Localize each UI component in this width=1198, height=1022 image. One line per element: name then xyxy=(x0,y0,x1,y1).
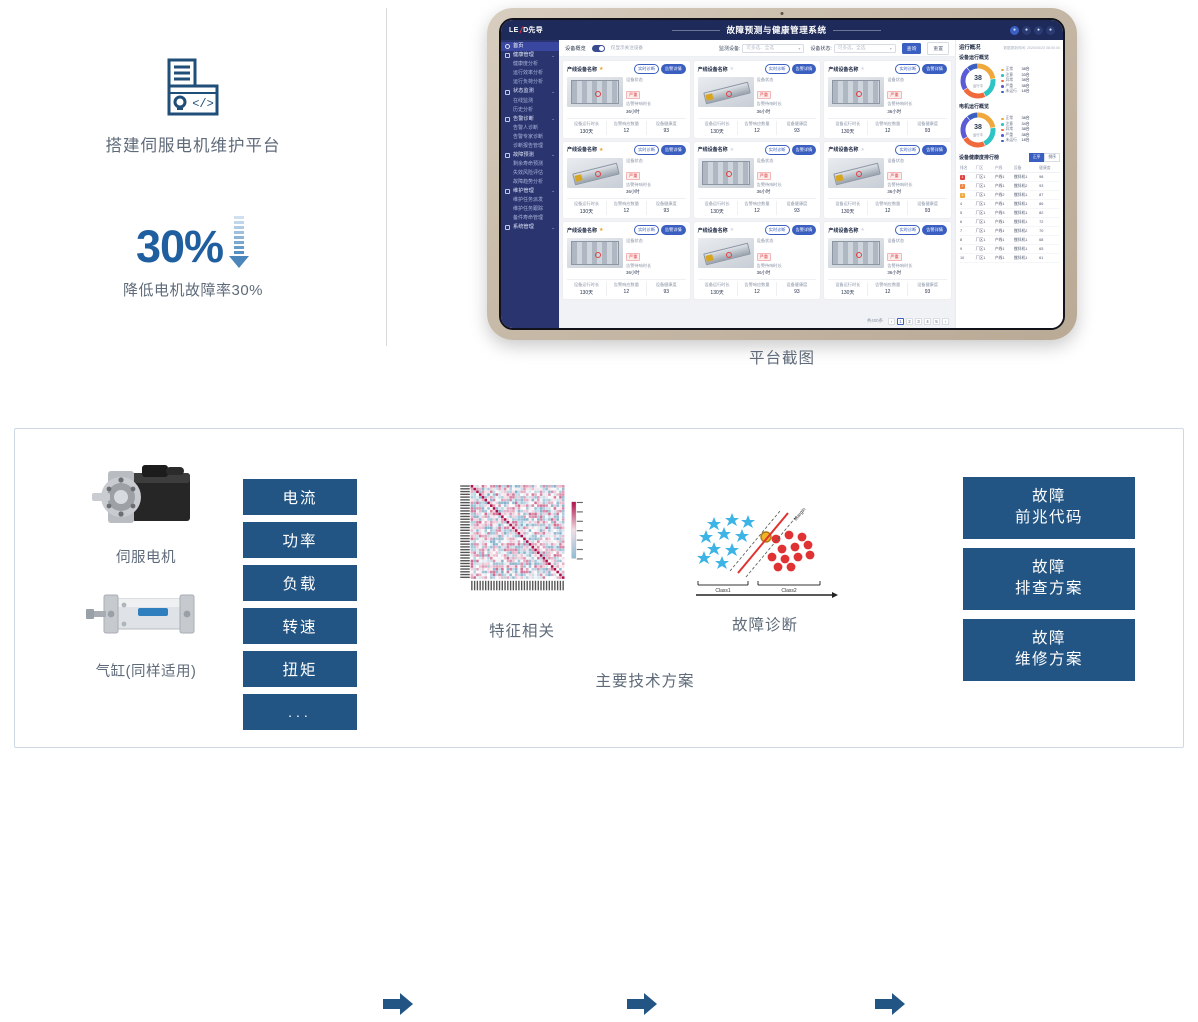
card-top: 产线设备名称★实时诊断告警详情 xyxy=(567,64,686,74)
output-box-2: 故障维修方案 xyxy=(963,619,1135,681)
rank-cell-plant: 厂区1 xyxy=(975,254,994,263)
device-card[interactable]: 产线设备名称★实时诊断告警详情设备状态严重告警待响时长36小时设备运行时长130… xyxy=(694,142,821,219)
card-stats: 设备运行时长130天告警响应数量12设备健康度93 xyxy=(698,118,817,135)
device-image xyxy=(567,238,623,268)
stat-value: 12 xyxy=(868,289,907,295)
device-image xyxy=(567,77,623,107)
sidebar-subitem-11[interactable]: 诊断报告管理 xyxy=(501,142,559,151)
title-rule-left xyxy=(672,30,720,31)
rank-cell-rank: 6 xyxy=(959,218,975,227)
device-card[interactable]: 产线设备名称★实时诊断告警详情设备状态严重告警待响时长36小时设备运行时长130… xyxy=(694,222,821,299)
card-mid: 设备状态严重告警待响时长36小时 xyxy=(828,238,947,276)
card-stat-cell: 设备健康度93 xyxy=(908,282,947,296)
card-top: 产线设备名称★实时诊断告警详情 xyxy=(828,145,947,155)
app-header: LE / D先导 故障预测与健康管理系统 ● ● ● ● xyxy=(501,20,1063,40)
device-status-label: 设备状态: xyxy=(810,45,831,52)
sidebar-subitem-7[interactable]: 历史分析 xyxy=(501,106,559,115)
stat-value: 93 xyxy=(908,208,947,214)
stat-key: 设备健康度 xyxy=(647,201,686,207)
tablet-screen: LE / D先导 故障预测与健康管理系统 ● ● ● ● xyxy=(499,18,1065,330)
rank-table-row[interactable]: 7厂区1产线1搅拌机270 xyxy=(959,227,1060,236)
donut-legend: 正常38台注意34台异常38台严重38台未运行18台 xyxy=(1001,116,1060,144)
stat-value: 93 xyxy=(777,128,816,134)
output-line1: 故障 xyxy=(1032,558,1066,579)
sidebar-item-16[interactable]: 维护管理⌄ xyxy=(501,187,559,196)
sidebar-subitem-17[interactable]: 维护任务派发 xyxy=(501,196,559,205)
card-stat-cell: 设备运行时长130天 xyxy=(828,121,868,135)
rank-cell-line: 产线1 xyxy=(994,236,1013,245)
donut-label: 运行中 xyxy=(973,83,983,88)
servo-motor-image xyxy=(80,457,212,542)
rank-cell-plant: 厂区1 xyxy=(975,200,994,209)
tablet-device: LE / D先导 故障预测与健康管理系统 ● ● ● ● xyxy=(487,8,1077,340)
alarm-detail-button[interactable]: 告警详情 xyxy=(792,64,817,74)
heart-icon xyxy=(505,53,510,58)
chart-icon xyxy=(505,153,510,158)
rank-cell-plant: 厂区1 xyxy=(975,182,994,191)
status-badge: 严重 xyxy=(757,172,771,180)
query-button[interactable]: 查询 xyxy=(902,43,922,54)
sidebar-item-label: 状态监测 xyxy=(513,89,534,94)
logo-right-text: D先导 xyxy=(523,25,543,35)
stat-key: 设备运行时长 xyxy=(567,121,606,127)
sidebar-subitem-4[interactable]: 运行负荷分析 xyxy=(501,78,559,87)
rank-cell-score: 72 xyxy=(1038,218,1060,227)
alarm-detail-button[interactable]: 告警详情 xyxy=(792,225,817,235)
stat-key: 设备健康度 xyxy=(777,121,816,127)
equipment-item-motor: 伺服电机 xyxy=(73,457,219,567)
device-card[interactable]: 产线设备名称★实时诊断告警详情设备状态严重告警待响时长36小时设备运行时长130… xyxy=(563,142,690,219)
stat-value: 93 xyxy=(908,289,947,295)
stat-value: 93 xyxy=(908,128,947,134)
card-mid: 设备状态严重告警待响时长36小时 xyxy=(698,158,817,196)
stat-key: 设备运行时长 xyxy=(828,201,867,207)
device-cards-area: 产线设备名称★实时诊断告警详情设备状态严重告警待响时长36小时设备运行时长130… xyxy=(559,57,955,314)
stat-key: 告警响应数量 xyxy=(607,121,646,127)
sidebar-item-12[interactable]: 故障预测⌄ xyxy=(501,151,559,160)
card-title: 产线设备名称 xyxy=(567,227,597,234)
sidebar-subitem-9[interactable]: 告警人诊断 xyxy=(501,124,559,133)
sidebar-subitem-14[interactable]: 失效风险评估 xyxy=(501,169,559,178)
legend-value: 18台 xyxy=(1022,138,1030,144)
monitor-device-select[interactable]: 可多选、全选 ▾ xyxy=(742,44,804,53)
card-mid: 设备状态严重告警待响时长36小时 xyxy=(567,77,686,115)
rank-cell-device: 搅拌机1 xyxy=(1013,200,1038,209)
rank-cell-plant: 厂区1 xyxy=(975,218,994,227)
rank-cell-line: 产线2 xyxy=(994,191,1013,200)
app-body: 首页健康管理⌄健康度分析运行效率分析运行负荷分析状态监测⌄在线监测历史分析告警诊… xyxy=(501,40,1063,328)
legend-color-dot xyxy=(1001,80,1004,83)
stat-key: 告警响应数量 xyxy=(868,282,907,288)
donut-value: 38 xyxy=(974,124,982,131)
device-card[interactable]: 产线设备名称★实时诊断告警详情设备状态严重告警待响时长36小时设备运行时长130… xyxy=(694,61,821,138)
rank-cell-device: 搅拌机1 xyxy=(1013,254,1038,263)
legend-color-dot xyxy=(1001,134,1004,137)
rank-badge: 2 xyxy=(960,184,965,189)
stat-key: 设备健康度 xyxy=(908,282,947,288)
card-mid: 设备状态严重告警待响时长36小时 xyxy=(828,77,947,115)
card-mid: 设备状态严重告警待响时长36小时 xyxy=(828,158,947,196)
app-main: 设备概览 仅显示关注设备 监测设备: 可多选、全选 ▾ xyxy=(559,40,1063,328)
rank-cell-device: 搅拌机1 xyxy=(1013,218,1038,227)
card-buttons: 实时诊断告警详情 xyxy=(765,64,817,74)
rank-table-row[interactable]: 8厂区1产线1搅拌机168 xyxy=(959,236,1060,245)
alarm-detail-button[interactable]: 告警详情 xyxy=(792,145,817,155)
card-buttons: 实时诊断告警详情 xyxy=(765,145,817,155)
donut-chart-title: 设备运行概览 xyxy=(959,54,1060,61)
device-card[interactable]: 产线设备名称★实时诊断告警详情设备状态严重告警待响时长36小时设备运行时长130… xyxy=(824,61,951,138)
camera-icon xyxy=(781,12,784,15)
rank-tab[interactable]: 正序 xyxy=(1029,153,1045,162)
app-title: 故障预测与健康管理系统 xyxy=(726,24,826,36)
sidebar-item-label: 系统管理 xyxy=(513,225,534,230)
device-card[interactable]: 产线设备名称★实时诊断告警详情设备状态严重告警待响时长36小时设备运行时长130… xyxy=(824,222,951,299)
rank-cell-plant: 厂区1 xyxy=(975,209,994,218)
chevron-down-icon: ▾ xyxy=(890,46,892,51)
card-stat-cell: 告警响应数量12 xyxy=(868,121,908,135)
chevron-down-icon: ⌄ xyxy=(551,117,555,122)
card-stats: 设备运行时长130天告警响应数量12设备健康度93 xyxy=(828,198,947,215)
card-top: 产线设备名称★实时诊断告警详情 xyxy=(828,64,947,74)
rank-cell-rank: 8 xyxy=(959,236,975,245)
rank-table-row[interactable]: 1厂区1产线1搅拌机198 xyxy=(959,173,1060,182)
rank-cell-device: 搅拌机1 xyxy=(1013,236,1038,245)
donut-center: 38运行中 xyxy=(959,111,997,149)
bell-icon[interactable]: ● xyxy=(1022,26,1031,35)
legend-row: 未运行18台 xyxy=(1001,138,1060,144)
legend-color-dot xyxy=(1001,123,1004,126)
sidebar-item-0[interactable]: 首页 xyxy=(501,42,559,51)
card-buttons: 实时诊断告警详情 xyxy=(895,64,947,74)
device-card[interactable]: 产线设备名称★实时诊断告警详情设备状态严重告警待响时长36小时设备运行时长130… xyxy=(824,142,951,219)
sidebar-item-label: 故障预测 xyxy=(513,153,534,158)
sidebar-item-5[interactable]: 状态监测⌄ xyxy=(501,87,559,96)
card-stat-cell: 告警响应数量12 xyxy=(607,121,647,135)
card-mid: 设备状态严重告警待响时长36小时 xyxy=(567,158,686,196)
output-line1: 故障 xyxy=(1032,487,1066,508)
alarm-marker-icon xyxy=(726,252,732,258)
legend-color-dot xyxy=(1001,74,1004,77)
rank-column-header: 厂区 xyxy=(975,164,994,173)
parameter-box-5: ... xyxy=(243,694,357,730)
right-panel-head: 运行概况 数据更新时间: 2020/05/20 08:00:00 xyxy=(959,43,1060,51)
alarm-marker-icon xyxy=(856,252,862,258)
card-info: 设备状态严重告警待响时长36小时 xyxy=(757,238,817,276)
rank-cell-line: 产线1 xyxy=(994,254,1013,263)
rank-tabs[interactable]: 正序倒序 xyxy=(1029,153,1060,162)
output-box-0: 故障前兆代码 xyxy=(963,477,1135,539)
stat-value: 93 xyxy=(647,128,686,134)
rank-cell-device: 搅拌机2 xyxy=(1013,182,1038,191)
rank-cell-plant: 厂区1 xyxy=(975,191,994,200)
chevron-down-icon: ⌄ xyxy=(551,153,555,158)
next-page-button[interactable]: › xyxy=(942,318,949,325)
rank-cell-line: 产线1 xyxy=(994,173,1013,182)
donut-center: 38运行中 xyxy=(959,62,997,100)
home-icon xyxy=(505,44,510,49)
card-title: 产线设备名称 xyxy=(567,66,597,73)
sidebar-subitem-6[interactable]: 在线监测 xyxy=(501,97,559,106)
sidebar-item-label: 首页 xyxy=(513,44,523,49)
monitor-device-value: 可多选、全选 xyxy=(746,45,774,51)
app-title-wrap: 故障预测与健康管理系统 xyxy=(543,24,1010,36)
sidebar-item-label: 健康管理 xyxy=(513,53,534,58)
card-buttons: 实时诊断告警详情 xyxy=(765,225,817,235)
pending-value: 36小时 xyxy=(626,108,686,115)
svg-text:</>: </> xyxy=(192,97,214,111)
card-stat-cell: 设备健康度93 xyxy=(777,201,816,215)
app-sidebar[interactable]: 首页健康管理⌄健康度分析运行效率分析运行负荷分析状态监测⌄在线监测历史分析告警诊… xyxy=(501,40,559,328)
stat-number: 30% xyxy=(136,224,223,269)
realtime-diagnose-button[interactable]: 实时诊断 xyxy=(765,64,790,74)
page-button-1[interactable]: 1 xyxy=(897,318,904,325)
card-buttons: 实时诊断告警详情 xyxy=(634,225,686,235)
stat-value: 130天 xyxy=(828,289,867,296)
logo-left-text: LE xyxy=(509,27,519,34)
alarm-detail-button[interactable]: 告警详情 xyxy=(661,225,686,235)
star-icon[interactable]: ★ xyxy=(599,227,603,233)
stat-key: 设备运行时长 xyxy=(828,282,867,288)
card-stat-cell: 告警响应数量12 xyxy=(738,282,778,296)
realtime-diagnose-button[interactable]: 实时诊断 xyxy=(895,64,920,74)
status-badge: 严重 xyxy=(757,253,771,261)
sidebar-subitem-15[interactable]: 故障趋势分析 xyxy=(501,178,559,187)
card-stat-cell: 设备运行时长130天 xyxy=(698,282,738,296)
pending-value: 36小时 xyxy=(757,188,817,195)
card-stat-cell: 设备健康度93 xyxy=(908,201,947,215)
rank-cell-rank: 4 xyxy=(959,200,975,209)
chevron-down-icon: ▾ xyxy=(798,46,800,51)
pending-value: 36小时 xyxy=(757,108,817,115)
page-button-5[interactable]: 5 xyxy=(933,318,940,325)
donut-chart-block-0: 设备运行概览38运行中正常38台注意33台异常38台严重38台未运行18台 xyxy=(959,54,1060,100)
stat-value: 12 xyxy=(607,208,646,214)
rank-table: 排名厂区产线设备健康度 1厂区1产线1搅拌机1982厂区1产线1搅拌机2933厂… xyxy=(959,164,1060,263)
prev-page-button[interactable]: ‹ xyxy=(888,318,895,325)
chevron-down-icon: ⌄ xyxy=(551,226,555,231)
chevron-down-icon: ⌄ xyxy=(551,54,555,59)
stat-block: 30% 降低电机故障率30% xyxy=(123,224,263,300)
rank-table-row[interactable]: 2厂区1产线1搅拌机293 xyxy=(959,182,1060,191)
rank-cell-plant: 厂区1 xyxy=(975,236,994,245)
rank-cell-rank: 10 xyxy=(959,254,975,263)
svg-text:Class1: Class1 xyxy=(715,588,731,594)
star-icon[interactable]: ★ xyxy=(730,227,734,233)
equipment-column: 伺服电机 xyxy=(73,457,219,681)
pagination[interactable]: 共400条‹12345› xyxy=(559,314,955,328)
stat-value: 12 xyxy=(738,208,777,214)
code-window-icon: </> xyxy=(157,58,229,118)
card-title: 产线设备名称 xyxy=(828,146,858,153)
rank-cell-rank: 9 xyxy=(959,245,975,254)
stat-key: 设备健康度 xyxy=(647,282,686,288)
rank-column-header: 健康度 xyxy=(1038,164,1060,173)
rank-table-row[interactable]: 3厂区1产线2搅拌机187 xyxy=(959,191,1060,200)
page-button-2[interactable]: 2 xyxy=(906,318,913,325)
rank-cell-line: 产线1 xyxy=(994,227,1013,236)
alarm-marker-icon xyxy=(726,91,732,97)
stat-value: 12 xyxy=(607,128,646,134)
rank-header-row: 排名厂区产线设备健康度 xyxy=(959,164,1060,173)
stat-value: 93 xyxy=(647,208,686,214)
alarm-detail-button[interactable]: 告警详情 xyxy=(922,145,947,155)
user-icon[interactable]: ● xyxy=(1010,26,1019,35)
lock-icon[interactable]: ● xyxy=(1034,26,1043,35)
status-badge: 严重 xyxy=(626,91,640,99)
flow-arrow-1 xyxy=(383,991,413,1017)
realtime-diagnose-button[interactable]: 实时诊断 xyxy=(895,225,920,235)
device-status-value: 可多选、全选 xyxy=(838,45,866,51)
device-card[interactable]: 产线设备名称★实时诊断告警详情设备状态严重告警待响时长36小时设备运行时长130… xyxy=(563,222,690,299)
card-buttons: 实时诊断告警详情 xyxy=(634,145,686,155)
card-stat-cell: 设备健康度93 xyxy=(647,201,686,215)
status-badge: 严重 xyxy=(626,253,640,261)
alarm-detail-button[interactable]: 告警详情 xyxy=(922,225,947,235)
stat-value: 93 xyxy=(647,289,686,295)
realtime-diagnose-button[interactable]: 实时诊断 xyxy=(765,145,790,155)
stat-key: 设备运行时长 xyxy=(828,121,867,127)
right-panel: 运行概况 数据更新时间: 2020/05/20 08:00:00 设备运行概览3… xyxy=(955,40,1063,328)
device-status-field: 设备状态: 可多选、全选 ▾ xyxy=(810,44,895,53)
donut-charts: 设备运行概览38运行中正常38台注意33台异常38台严重38台未运行18台电机运… xyxy=(959,51,1060,149)
parameter-box-1: 功率 xyxy=(243,522,357,558)
rank-table-row[interactable]: 4厂区1产线1搅拌机186 xyxy=(959,200,1060,209)
stat-key: 设备健康度 xyxy=(777,282,816,288)
star-icon[interactable]: ★ xyxy=(860,66,864,72)
page-button-4[interactable]: 4 xyxy=(924,318,931,325)
sidebar-subitem-18[interactable]: 维护任务跟踪 xyxy=(501,205,559,214)
star-icon[interactable]: ★ xyxy=(860,227,864,233)
rank-column-header: 排名 xyxy=(959,164,975,173)
rank-cell-device: 搅拌机1 xyxy=(1013,209,1038,218)
sidebar-subitem-10[interactable]: 告警专家诊断 xyxy=(501,133,559,142)
flow-main-caption: 主要技术方案 xyxy=(515,669,775,691)
star-icon[interactable]: ★ xyxy=(860,147,864,153)
monitor-device-label: 监测设备: xyxy=(719,45,740,52)
sidebar-subitem-2[interactable]: 健康度分析 xyxy=(501,60,559,69)
rank-cell-device: 搅拌机1 xyxy=(1013,173,1038,182)
alarm-marker-icon xyxy=(726,171,732,177)
alarm-detail-button[interactable]: 告警详情 xyxy=(661,64,686,74)
device-image xyxy=(828,158,884,188)
alarm-marker-icon xyxy=(595,252,601,258)
card-stat-cell: 设备运行时长130天 xyxy=(567,121,607,135)
card-info: 设备状态严重告警待响时长36小时 xyxy=(887,158,947,196)
card-stat-cell: 设备运行时长130天 xyxy=(567,201,607,215)
device-image xyxy=(698,238,754,268)
page-button-3[interactable]: 3 xyxy=(915,318,922,325)
pending-value: 36小时 xyxy=(887,108,947,115)
rank-table-row[interactable]: 6厂区1产线1搅拌机172 xyxy=(959,218,1060,227)
show-followed-toggle[interactable] xyxy=(592,45,605,52)
card-title: 产线设备名称 xyxy=(828,66,858,73)
sidebar-item-20[interactable]: 系统管理⌄ xyxy=(501,223,559,232)
card-stat-cell: 告警响应数量12 xyxy=(868,201,908,215)
correlation-heatmap-image xyxy=(442,485,602,605)
rank-column-header: 产线 xyxy=(994,164,1013,173)
card-stat-cell: 设备健康度93 xyxy=(777,282,816,296)
pending-value: 36小时 xyxy=(887,188,947,195)
power-icon[interactable]: ● xyxy=(1046,26,1055,35)
sidebar-subitem-13[interactable]: 剩余寿命预测 xyxy=(501,160,559,169)
alarm-detail-button[interactable]: 告警详情 xyxy=(922,64,947,74)
card-top: 产线设备名称★实时诊断告警详情 xyxy=(567,225,686,235)
alarm-detail-button[interactable]: 告警详情 xyxy=(661,145,686,155)
output-box-1: 故障排查方案 xyxy=(963,548,1135,610)
stat-value: 130天 xyxy=(567,128,606,135)
realtime-diagnose-button[interactable]: 实时诊断 xyxy=(895,145,920,155)
donut-chart-block-1: 电机运行概览38运行中正常38台注意34台异常38台严重38台未运行18台 xyxy=(959,103,1060,149)
star-icon[interactable]: ★ xyxy=(599,147,603,153)
vertical-divider xyxy=(386,8,387,346)
rank-cell-score: 65 xyxy=(1038,245,1060,254)
card-top: 产线设备名称★实时诊断告警详情 xyxy=(698,225,817,235)
rank-table-row[interactable]: 9厂区1产线1搅拌机165 xyxy=(959,245,1060,254)
stat-key: 告警响应数量 xyxy=(868,121,907,127)
star-icon[interactable]: ★ xyxy=(599,66,603,72)
header-icons: ● ● ● ● xyxy=(1010,26,1055,35)
pending-value: 36小时 xyxy=(887,269,947,276)
star-icon[interactable]: ★ xyxy=(730,147,734,153)
realtime-diagnose-button[interactable]: 实时诊断 xyxy=(765,225,790,235)
realtime-diagnose-button[interactable]: 实时诊断 xyxy=(634,145,659,155)
stat-key: 设备运行时长 xyxy=(567,282,606,288)
card-stat-cell: 告警响应数量12 xyxy=(868,282,908,296)
stat-key: 设备健康度 xyxy=(777,201,816,207)
star-icon[interactable]: ★ xyxy=(730,66,734,72)
device-card[interactable]: 产线设备名称★实时诊断告警详情设备状态严重告警待响时长36小时设备运行时长130… xyxy=(563,61,690,138)
flow-diagram: 伺服电机 xyxy=(15,429,1183,747)
stat-key: 告警响应数量 xyxy=(607,201,646,207)
rank-cell-plant: 厂区1 xyxy=(975,227,994,236)
rank-cell-rank: 7 xyxy=(959,227,975,236)
rank-badge: 3 xyxy=(960,193,965,198)
realtime-diagnose-button[interactable]: 实时诊断 xyxy=(634,225,659,235)
sidebar-item-8[interactable]: 告警诊断⌄ xyxy=(501,115,559,124)
card-stat-cell: 告警响应数量12 xyxy=(738,201,778,215)
legend-name: 未运行 xyxy=(1006,89,1020,95)
rank-table-row[interactable]: 10厂区1产线1搅拌机161 xyxy=(959,254,1060,263)
donut-chart: 38运行中 xyxy=(959,111,997,149)
rank-column-header: 设备 xyxy=(1013,164,1038,173)
stat-key: 告警响应数量 xyxy=(607,282,646,288)
monitor-icon xyxy=(505,90,510,95)
card-stat-cell: 设备运行时长130天 xyxy=(698,201,738,215)
stat-key: 设备运行时长 xyxy=(567,201,606,207)
realtime-diagnose-button[interactable]: 实时诊断 xyxy=(634,64,659,74)
stat-key: 设备健康度 xyxy=(908,201,947,207)
card-stats: 设备运行时长130天告警响应数量12设备健康度93 xyxy=(567,279,686,296)
sidebar-subitem-3[interactable]: 运行效率分析 xyxy=(501,69,559,78)
reset-button[interactable]: 重置 xyxy=(927,42,949,55)
stat-value: 130天 xyxy=(828,208,867,215)
sidebar-item-1[interactable]: 健康管理⌄ xyxy=(501,51,559,60)
rank-cell-score: 68 xyxy=(1038,236,1060,245)
card-stats: 设备运行时长130天告警响应数量12设备健康度93 xyxy=(828,118,947,135)
rank-cell-plant: 厂区1 xyxy=(975,245,994,254)
sidebar-subitem-19[interactable]: 备件寿命管理 xyxy=(501,214,559,223)
device-status-select[interactable]: 可多选、全选 ▾ xyxy=(834,44,896,53)
status-badge: 严重 xyxy=(887,253,901,261)
donut-row: 38运行中正常38台注意33台异常38台严重38台未运行18台 xyxy=(959,62,1060,100)
rank-table-row[interactable]: 5厂区1产线3搅拌机182 xyxy=(959,209,1060,218)
output-line2: 维修方案 xyxy=(1015,650,1083,671)
rank-tab[interactable]: 倒序 xyxy=(1044,153,1060,162)
top-section: </> 搭建伺服电机维护平台 30% xyxy=(0,0,1198,400)
card-stat-cell: 告警响应数量12 xyxy=(738,121,778,135)
stat-value: 12 xyxy=(738,289,777,295)
card-top: 产线设备名称★实时诊断告警详情 xyxy=(698,64,817,74)
